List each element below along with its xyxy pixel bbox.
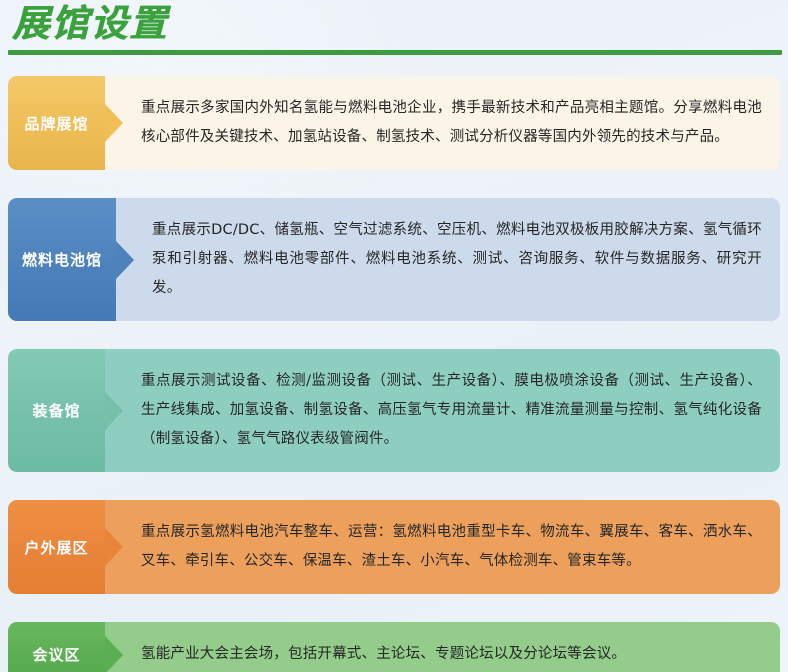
zone-label-brand[interactable]: 品牌展馆 <box>8 76 105 170</box>
zone-description-conference: 氢能产业大会主会场，包括开幕式、主论坛、专题论坛以及分论坛等会议。 <box>105 622 780 672</box>
zone-row-fuelcell[interactable]: 燃料电池馆 重点展示DC/DC、储氢瓶、空气过滤系统、空压机、燃料电池双极板用胶… <box>8 198 780 321</box>
zone-description-brand: 重点展示多家国内外知名氢能与燃料电池企业，携手最新技术和产品亮相主题馆。分享燃料… <box>105 76 780 170</box>
zone-label-text: 会议区 <box>32 644 80 665</box>
zone-row-outdoor[interactable]: 户外展区 重点展示氢燃料电池汽车整车、运营：氢燃料电池重型卡车、物流车、翼展车、… <box>8 500 780 594</box>
zone-label-equipment[interactable]: 装备馆 <box>8 349 105 472</box>
zone-description-equipment: 重点展示测试设备、检测/监测设备（测试、生产设备）、膜电极喷涂设备（测试、生产设… <box>105 349 780 472</box>
zone-row-conference[interactable]: 会议区 氢能产业大会主会场，包括开幕式、主论坛、专题论坛以及分论坛等会议。 <box>8 622 780 672</box>
zone-row-equipment[interactable]: 装备馆 重点展示测试设备、检测/监测设备（测试、生产设备）、膜电极喷涂设备（测试… <box>8 349 780 472</box>
page-header: 展馆设置 <box>0 0 788 62</box>
zone-row-brand[interactable]: 品牌展馆 重点展示多家国内外知名氢能与燃料电池企业，携手最新技术和产品亮相主题馆… <box>8 76 780 170</box>
page-title: 展馆设置 <box>12 2 168 46</box>
title-divider <box>8 50 782 55</box>
zone-label-fuelcell[interactable]: 燃料电池馆 <box>8 198 116 321</box>
zone-label-conference[interactable]: 会议区 <box>8 622 105 672</box>
zone-label-text: 装备馆 <box>32 400 80 421</box>
zone-label-text: 户外展区 <box>24 537 88 558</box>
zone-label-text: 品牌展馆 <box>24 113 88 134</box>
zone-label-outdoor[interactable]: 户外展区 <box>8 500 105 594</box>
zone-description-fuelcell: 重点展示DC/DC、储氢瓶、空气过滤系统、空压机、燃料电池双极板用胶解决方案、氢… <box>116 198 780 321</box>
zone-description-outdoor: 重点展示氢燃料电池汽车整车、运营：氢燃料电池重型卡车、物流车、翼展车、客车、洒水… <box>105 500 780 594</box>
zone-label-text: 燃料电池馆 <box>22 249 102 270</box>
zone-list: 品牌展馆 重点展示多家国内外知名氢能与燃料电池企业，携手最新技术和产品亮相主题馆… <box>0 76 788 672</box>
